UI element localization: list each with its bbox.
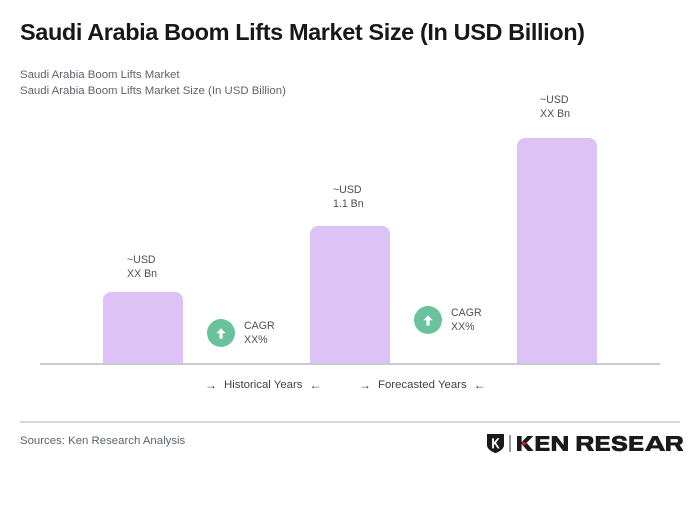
- bar-historical[interactable]: [103, 292, 183, 364]
- bar-value-line-1: ~USD: [540, 93, 570, 107]
- arrow-left-icon: ←: [474, 379, 486, 391]
- brand-divider: [509, 435, 511, 452]
- ken-research-shield-icon: [486, 433, 505, 454]
- cagr-line-1: CAGR: [451, 307, 482, 319]
- bar-value-label-forecasted: ~USD XX Bn: [540, 93, 570, 121]
- arrow-right-icon: →: [359, 379, 371, 391]
- bar-value-line-1: ~USD: [127, 253, 157, 267]
- arrow-up-icon: [207, 319, 235, 347]
- cagr-line-2: XX%: [451, 321, 475, 333]
- bar-forecasted[interactable]: [517, 138, 597, 364]
- bar-value-label-interim: ~USD 1.1 Bn: [333, 183, 364, 211]
- cagr-label-historical: CAGR XX%: [244, 319, 275, 347]
- period-label-forecasted: → Forecasted Years ←: [359, 379, 486, 391]
- cagr-label-forecasted: CAGR XX%: [451, 306, 482, 334]
- footer-divider: [20, 421, 680, 423]
- bar-value-line-2: XX Bn: [127, 267, 157, 281]
- period-label-historical: → Historical Years ←: [205, 379, 322, 391]
- arrow-left-icon: ←: [310, 379, 322, 391]
- bar-interim[interactable]: [310, 226, 390, 364]
- cagr-badge-forecasted: CAGR XX%: [414, 306, 482, 334]
- cagr-line-1: CAGR: [244, 320, 275, 332]
- source-note: Sources: Ken Research Analysis: [20, 435, 185, 447]
- bar-value-line-2: XX Bn: [540, 107, 570, 121]
- arrow-right-icon: →: [205, 379, 217, 391]
- period-label-text: Historical Years: [224, 379, 303, 391]
- bar-value-line-1: ~USD: [333, 183, 364, 197]
- bar-value-label-historical: ~USD XX Bn: [127, 253, 157, 281]
- axis-baseline: [40, 363, 660, 365]
- bar-chart: ~USD XX Bn ~USD 1.1 Bn ~USD XX Bn CAGR X…: [0, 0, 700, 380]
- period-label-text: Forecasted Years: [378, 379, 467, 391]
- brand-logo: [486, 433, 683, 453]
- cagr-line-2: XX%: [244, 334, 268, 346]
- ken-research-wordmark: [516, 435, 683, 452]
- cagr-badge-historical: CAGR XX%: [207, 319, 275, 347]
- bar-value-line-2: 1.1 Bn: [333, 197, 364, 211]
- arrow-up-icon: [414, 306, 442, 334]
